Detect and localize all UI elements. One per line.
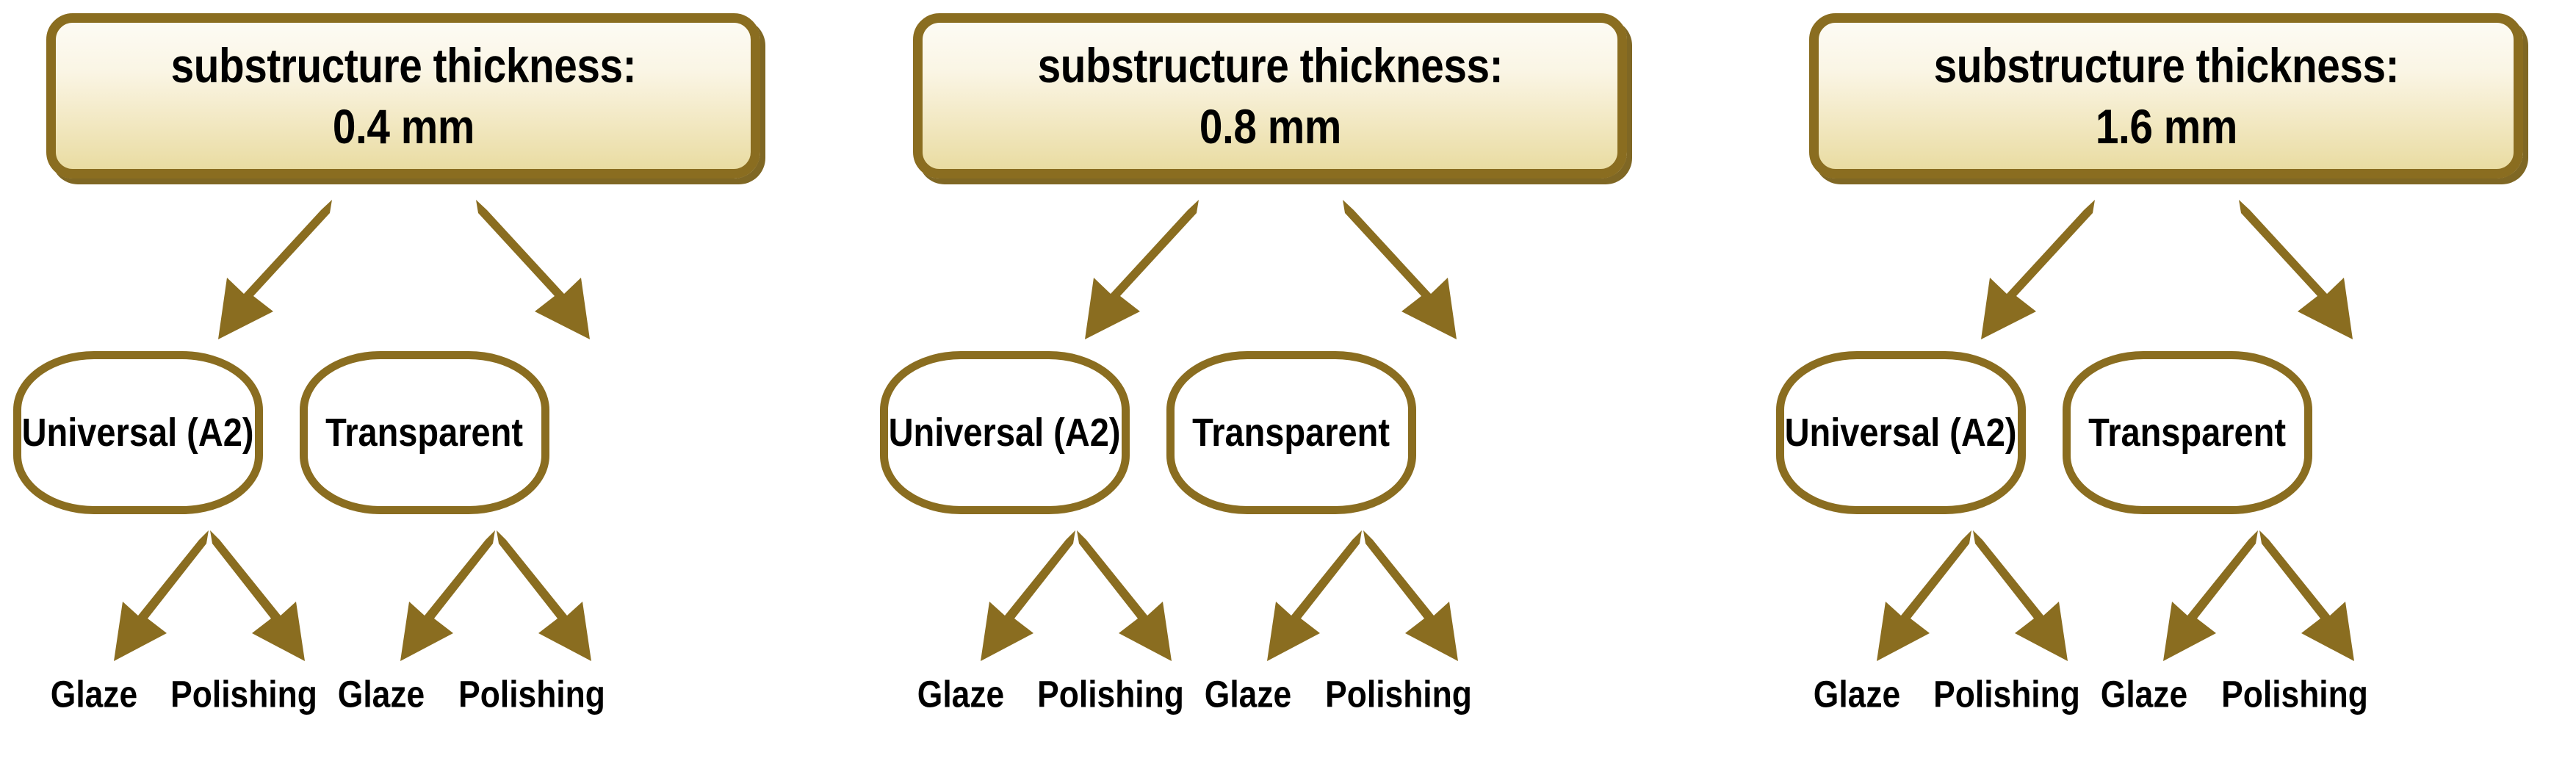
tree-group-1: substructure thickness: 0.8 mm Universal… — [867, 0, 1682, 761]
leaf-transparent-glaze: Glaze — [331, 673, 431, 716]
node-universal-a2[interactable]: Universal (A2) — [13, 351, 263, 514]
tree-group-0: substructure thickness: 0.4 mm Universal… — [0, 0, 815, 761]
node-label: Universal (A2) — [22, 410, 254, 455]
arrow-transparent-to-glaze — [1267, 530, 1362, 661]
arrow-transparent-to-polishing — [497, 530, 591, 661]
leaf-universal-glaze: Glaze — [44, 673, 144, 716]
root-node-1[interactable]: substructure thickness: 0.8 mm — [913, 13, 1627, 178]
arrow-transparent-to-glaze — [400, 530, 495, 661]
arrow-universal-to-polishing — [210, 530, 305, 661]
node-label: Transparent — [2089, 410, 2287, 455]
node-label: Transparent — [1193, 410, 1390, 455]
leaf-universal-glaze: Glaze — [911, 673, 1011, 716]
leaf-universal-polishing: Polishing — [159, 673, 328, 716]
arrow-root-to-universal — [1981, 200, 2095, 339]
tree-diagram-canvas: substructure thickness: 0.4 mm Universal… — [0, 0, 2576, 761]
leaf-transparent-polishing: Polishing — [2210, 673, 2379, 716]
arrow-universal-to-glaze — [114, 530, 209, 661]
arrow-transparent-to-glaze — [2163, 530, 2258, 661]
arrow-root-to-transparent — [2239, 200, 2353, 339]
tree-group-2: substructure thickness: 1.6 mm Universal… — [1763, 0, 2576, 761]
node-universal-a2[interactable]: Universal (A2) — [880, 351, 1130, 514]
node-transparent[interactable]: Transparent — [2063, 351, 2312, 514]
arrow-universal-to-glaze — [1877, 530, 1971, 661]
arrow-root-to-universal — [218, 200, 332, 339]
root-node-label: substructure thickness: 0.8 mm — [1037, 35, 1503, 156]
leaf-transparent-glaze: Glaze — [1198, 673, 1298, 716]
node-universal-a2[interactable]: Universal (A2) — [1776, 351, 2026, 514]
node-transparent[interactable]: Transparent — [1166, 351, 1416, 514]
root-node-label: substructure thickness: 1.6 mm — [1933, 35, 2399, 156]
root-node-label: substructure thickness: 0.4 mm — [170, 35, 636, 156]
leaf-transparent-glaze: Glaze — [2094, 673, 2194, 716]
arrow-transparent-to-polishing — [2259, 530, 2354, 661]
leaf-universal-glaze: Glaze — [1807, 673, 1907, 716]
arrow-universal-to-glaze — [981, 530, 1075, 661]
arrow-transparent-to-polishing — [1363, 530, 1458, 661]
arrow-universal-to-polishing — [1973, 530, 2068, 661]
node-transparent[interactable]: Transparent — [300, 351, 549, 514]
node-label: Universal (A2) — [889, 410, 1121, 455]
arrow-universal-to-polishing — [1077, 530, 1172, 661]
leaf-transparent-polishing: Polishing — [1314, 673, 1483, 716]
arrow-root-to-transparent — [1343, 200, 1457, 339]
node-label: Transparent — [326, 410, 524, 455]
arrow-root-to-transparent — [476, 200, 590, 339]
arrow-root-to-universal — [1085, 200, 1199, 339]
leaf-universal-polishing: Polishing — [1026, 673, 1195, 716]
leaf-universal-polishing: Polishing — [1922, 673, 2091, 716]
node-label: Universal (A2) — [1785, 410, 2017, 455]
root-node-2[interactable]: substructure thickness: 1.6 mm — [1809, 13, 2523, 178]
leaf-transparent-polishing: Polishing — [447, 673, 616, 716]
root-node-0[interactable]: substructure thickness: 0.4 mm — [46, 13, 760, 178]
